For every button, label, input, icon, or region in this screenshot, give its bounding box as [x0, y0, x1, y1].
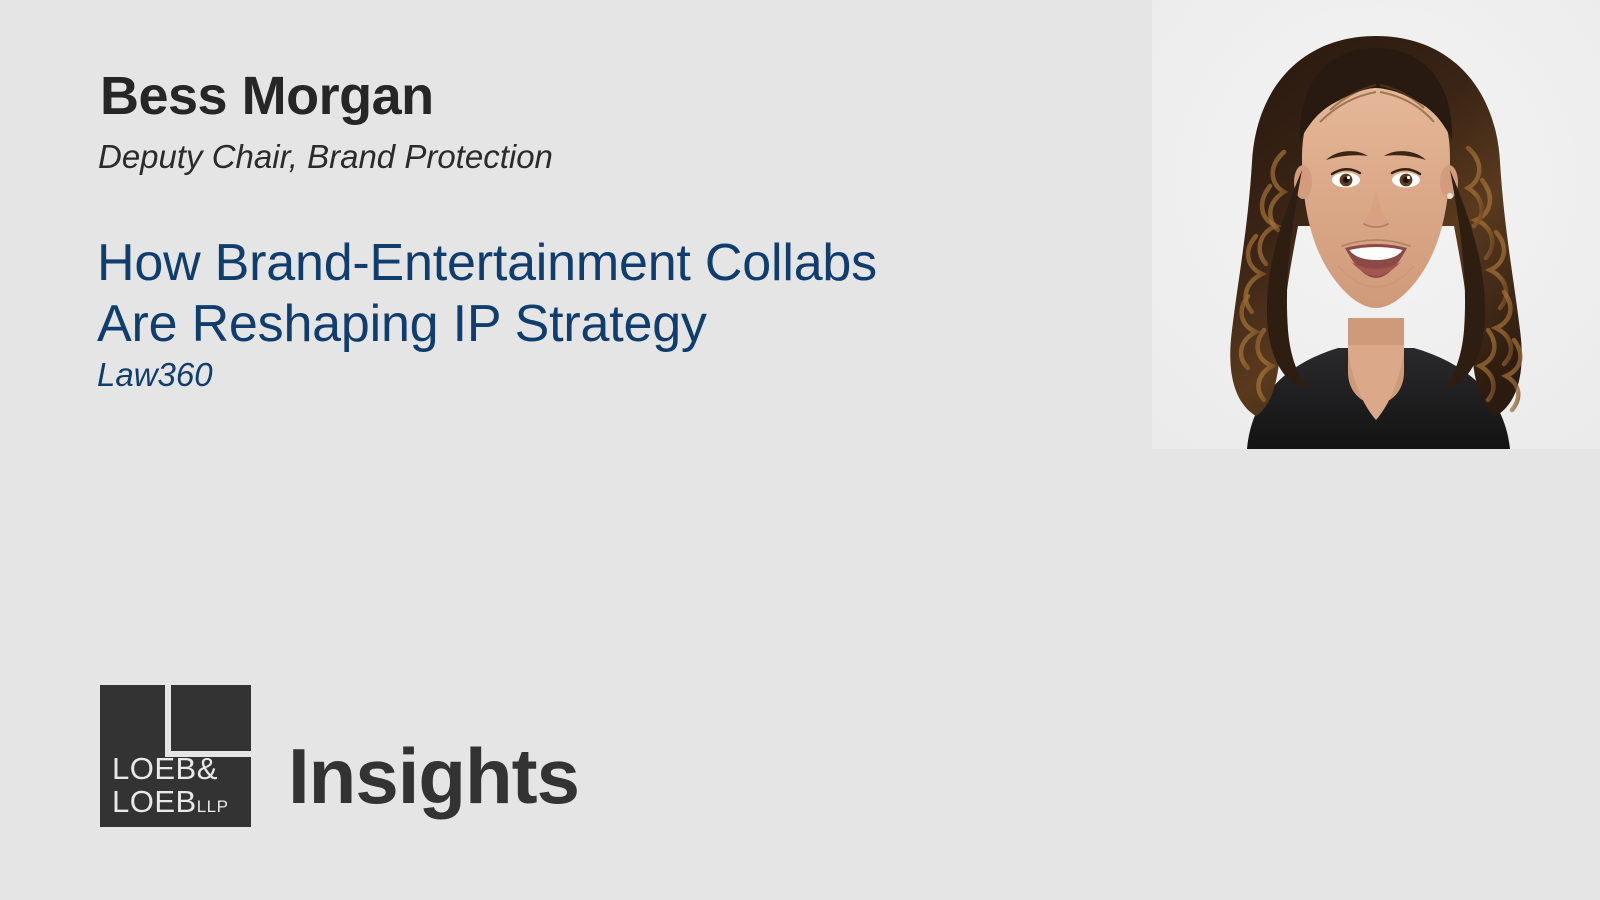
- logo-l-shape-vertical-gap: [165, 685, 171, 757]
- article-source: Law360: [97, 357, 213, 393]
- logo-wordmark-llp: LLP: [197, 797, 229, 816]
- article-title: How Brand-Entertainment Collabs Are Resh…: [97, 233, 877, 356]
- logo-wordmark-line-2: LOEBLLP: [112, 786, 228, 817]
- insights-title-card: Bess Morgan Deputy Chair, Brand Protecti…: [0, 0, 1600, 900]
- footer-brand-lockup: LOEB& LOEBLLP Insights: [100, 685, 579, 827]
- loeb-and-loeb-logo: LOEB& LOEBLLP: [100, 685, 251, 827]
- person-name: Bess Morgan: [100, 68, 434, 125]
- headshot-illustration: [1152, 0, 1600, 449]
- logo-wordmark: LOEB& LOEBLLP: [112, 753, 228, 817]
- headshot-photo: [1152, 0, 1600, 449]
- person-title: Deputy Chair, Brand Protection: [98, 139, 553, 175]
- logo-wordmark-line-1: LOEB&: [112, 753, 228, 784]
- logo-wordmark-loeb: LOEB: [112, 784, 197, 819]
- insights-series-label: Insights: [288, 737, 579, 815]
